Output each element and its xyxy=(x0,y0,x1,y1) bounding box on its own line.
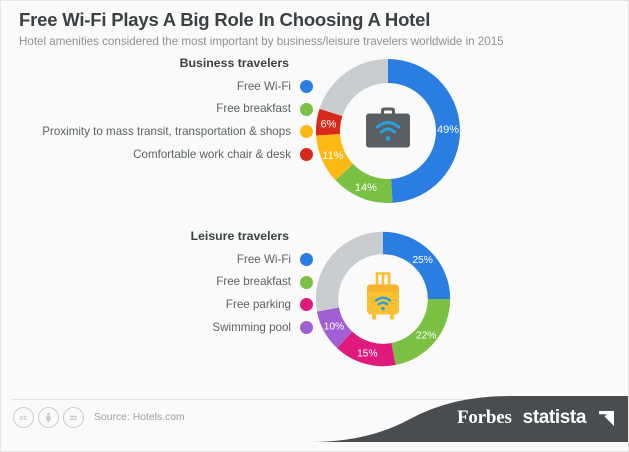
legend-color-dot-pink xyxy=(300,298,313,311)
legend-color-dot-amber xyxy=(300,125,313,138)
donut-segment[interactable] xyxy=(320,59,388,116)
legend-item-free-wifi[interactable]: Free Wi-Fi xyxy=(1,80,313,94)
legend-heading-business: Business travelers xyxy=(1,56,313,71)
legend-item-proximity-transit[interactable]: Proximity to mass transit, transportatio… xyxy=(1,125,313,139)
chart-block-business: Business travelers Free Wi-Fi Free break… xyxy=(1,56,501,206)
page-title: Free Wi-Fi Plays A Big Role In Choosing … xyxy=(19,9,612,30)
legend-heading-leisure: Leisure travelers xyxy=(1,229,313,244)
header: Free Wi-Fi Plays A Big Role In Choosing … xyxy=(19,9,612,49)
legend-item-free-breakfast[interactable]: Free breakfast xyxy=(1,275,313,289)
segment-percent-label: 11% xyxy=(322,150,343,162)
legend-color-dot-green xyxy=(300,103,313,116)
segment-percent-label: 22% xyxy=(416,330,437,341)
donut-chart-business: 49%14%11%6% xyxy=(313,56,463,206)
footer: cc Source: Hotels.com xyxy=(1,389,629,451)
legend-item-label: Free breakfast xyxy=(216,275,291,289)
donut-segment[interactable] xyxy=(316,232,383,312)
legend-item-label: Free Wi-Fi xyxy=(237,253,291,267)
legend-item-label: Proximity to mass transit, transportatio… xyxy=(42,125,291,139)
creative-commons-icons: cc xyxy=(13,407,84,428)
segment-percent-label: 6% xyxy=(321,118,337,130)
donut-chart-leisure: 25%22%15%10% xyxy=(313,229,453,369)
legend-item-work-chair-desk[interactable]: Comfortable work chair & desk xyxy=(1,148,313,162)
legend-item-free-wifi[interactable]: Free Wi-Fi xyxy=(1,253,313,267)
segment-percent-label: 49% xyxy=(437,124,459,136)
cc-icon[interactable]: cc xyxy=(13,407,34,428)
legend-item-label: Free parking xyxy=(226,298,291,312)
segment-percent-label: 14% xyxy=(355,182,377,194)
statista-mark-icon xyxy=(597,409,616,428)
legend-item-free-parking[interactable]: Free parking xyxy=(1,298,313,312)
source-label: Source: Hotels.com xyxy=(94,412,185,423)
legend-item-swimming-pool[interactable]: Swimming pool xyxy=(1,321,313,335)
legend-item-label: Free Wi-Fi xyxy=(237,80,291,94)
legend-color-dot-green xyxy=(300,276,313,289)
legend-item-free-breakfast[interactable]: Free breakfast xyxy=(1,102,313,116)
legend-item-label: Comfortable work chair & desk xyxy=(133,148,291,162)
segment-percent-label: 15% xyxy=(357,349,378,360)
statista-logo: statista xyxy=(523,407,586,429)
segment-percent-label: 10% xyxy=(324,322,345,333)
donut-leisure-svg: 25%22%15%10% xyxy=(313,229,453,369)
legend-color-dot-purple xyxy=(300,321,313,334)
cc-by-person-icon[interactable] xyxy=(38,407,59,428)
brand-logos: Forbes statista xyxy=(457,407,616,429)
legend-leisure: Leisure travelers Free Wi-Fi Free breakf… xyxy=(1,229,313,343)
segment-percent-label: 25% xyxy=(412,255,433,266)
forbes-logo: Forbes xyxy=(457,407,512,429)
legend-item-label: Swimming pool xyxy=(212,321,291,335)
legend-color-dot-blue xyxy=(300,80,313,93)
legend-item-label: Free breakfast xyxy=(216,102,291,116)
chart-block-leisure: Leisure travelers Free Wi-Fi Free breakf… xyxy=(1,229,501,369)
legend-color-dot-red xyxy=(300,148,313,161)
cc-nd-equals-icon[interactable] xyxy=(63,407,84,428)
svg-text:cc: cc xyxy=(20,415,28,422)
donut-business-svg: 49%14%11%6% xyxy=(313,56,463,206)
legend-color-dot-blue xyxy=(300,253,313,266)
infographic-root: Free Wi-Fi Plays A Big Role In Choosing … xyxy=(0,0,629,452)
brand-banner: Forbes statista xyxy=(310,396,629,442)
legend-business: Business travelers Free Wi-Fi Free break… xyxy=(1,56,313,170)
page-subtitle: Hotel amenities considered the most impo… xyxy=(19,35,612,49)
